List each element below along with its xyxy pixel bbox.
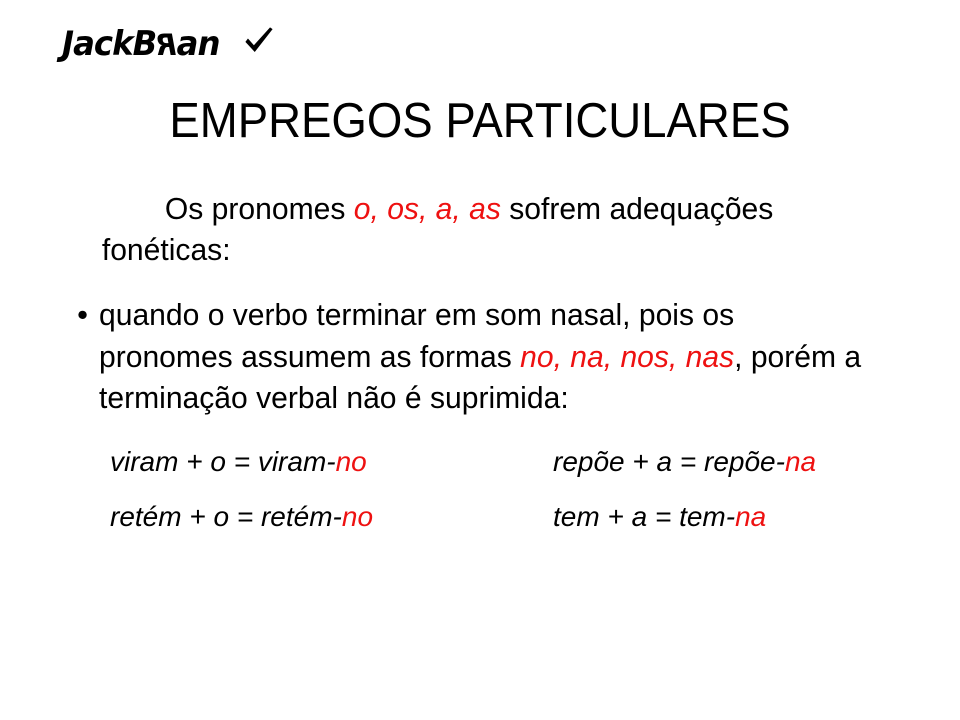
brand-logo-an: an: [177, 24, 220, 64]
bullet-marker-icon: •: [66, 294, 99, 335]
checkmark-icon: [242, 24, 276, 58]
example-row: retém + o = retém-no tem + a = tem-na: [0, 499, 960, 534]
brand-logo-reversed-r: R: [156, 31, 176, 60]
example-left-2: retém + o = retém-no: [110, 499, 553, 534]
intro-paragraph: Os pronomes o, os, a, as sofrem adequaçõ…: [0, 188, 931, 270]
example-right-1: repõe + a = repõe-na: [553, 444, 960, 479]
example-right-1-suffix: na: [785, 446, 816, 477]
example-left-1-base: viram + o = viram-: [110, 446, 336, 477]
example-right-1-base: repõe + a = repõe-: [553, 446, 785, 477]
brand-logo-b: B: [133, 24, 157, 64]
slide-body: Os pronomes o, os, a, as sofrem adequaçõ…: [0, 188, 960, 534]
bullet-forms: no, na, nos, nas: [520, 339, 734, 374]
example-left-1: viram + o = viram-no: [110, 444, 553, 479]
example-left-1-suffix: no: [336, 446, 367, 477]
brand-logo-text: JackBRan: [62, 27, 219, 61]
example-left-2-base: retém + o = retém-: [110, 501, 342, 532]
page-title: EMPREGOS PARTICULARES: [34, 96, 927, 147]
intro-pronouns: o, os, a, as: [354, 191, 501, 226]
example-right-2-base: tem + a = tem-: [553, 501, 735, 532]
example-row: viram + o = viram-no repõe + a = repõe-n…: [0, 444, 960, 479]
intro-text-before: Os pronomes: [165, 191, 354, 226]
bullet-item: • quando o verbo terminar em som nasal, …: [0, 294, 960, 418]
example-left-2-suffix: no: [342, 501, 373, 532]
example-right-2: tem + a = tem-na: [553, 499, 960, 534]
brand-logo-jack: Jack: [62, 24, 133, 64]
example-right-2-suffix: na: [735, 501, 766, 532]
bullet-paragraph: quando o verbo terminar em som nasal, po…: [99, 294, 934, 418]
brand-logo: JackBRan: [62, 27, 276, 61]
